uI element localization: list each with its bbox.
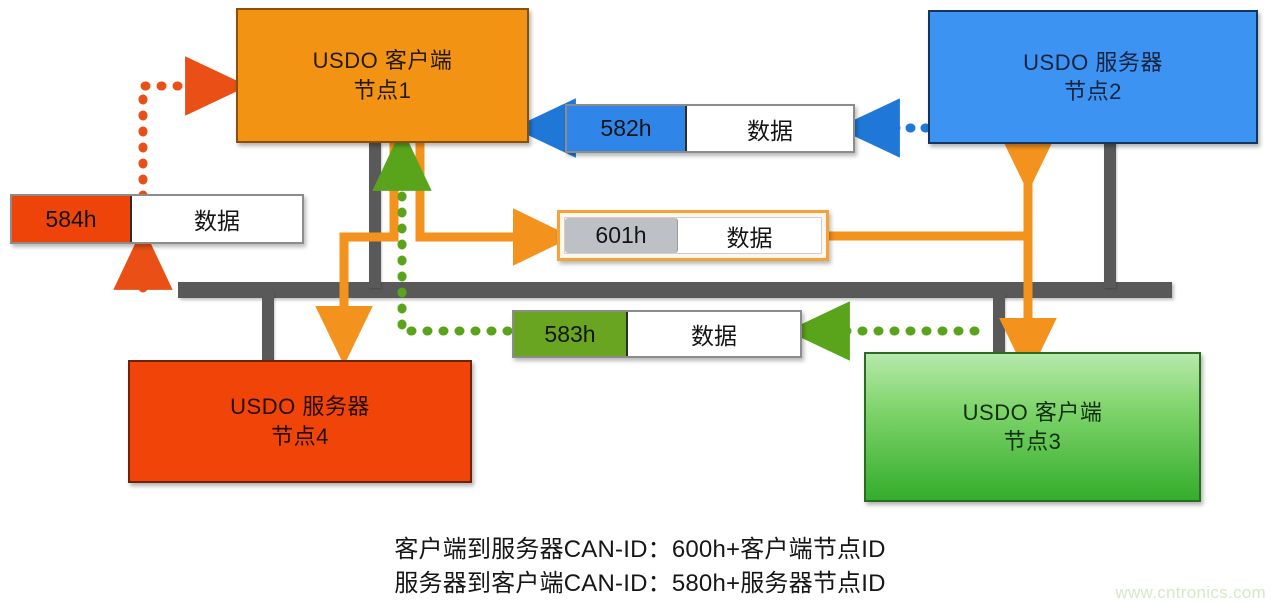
can-frame-601h[interactable]: 601h 数据 <box>557 210 829 261</box>
can-frame-582h[interactable]: 582h 数据 <box>565 104 855 153</box>
node-usdo-server-2[interactable]: USDO 服务器 节点2 <box>928 10 1258 144</box>
node-usdo-server-4[interactable]: USDO 服务器 节点4 <box>128 360 472 483</box>
can-frame-601h-data: 数据 <box>678 218 821 253</box>
caption-line-2: 服务器到客户端CAN-ID：580h+服务器节点ID <box>0 567 1280 601</box>
node-usdo-client-1[interactable]: USDO 客户端 节点1 <box>236 8 529 143</box>
can-frame-583h-data: 数据 <box>628 312 800 356</box>
node4-name: 节点4 <box>271 422 329 451</box>
node4-role: USDO 服务器 <box>230 392 370 421</box>
can-frame-582h-id: 582h <box>567 106 687 151</box>
node-usdo-client-3[interactable]: USDO 客户端 节点3 <box>864 352 1201 502</box>
bus-stub-node4 <box>262 294 274 362</box>
node2-name: 节点2 <box>1064 77 1122 106</box>
arrow-node1-to-frame601 <box>420 143 540 237</box>
can-frame-582h-data: 数据 <box>687 106 853 151</box>
watermark: www.cntronics.com <box>1115 583 1266 603</box>
can-bus-bar <box>178 282 1172 298</box>
can-frame-583h[interactable]: 583h 数据 <box>512 310 802 358</box>
can-frame-601h-id: 601h <box>565 218 678 253</box>
node3-role: USDO 客户端 <box>963 398 1103 427</box>
can-frame-584h-data: 数据 <box>132 196 302 242</box>
caption-line-1: 客户端到服务器CAN-ID：600h+客户端节点ID <box>0 533 1280 567</box>
arrow-node4-to-node1-dotted <box>143 86 213 288</box>
node1-role: USDO 客户端 <box>313 46 453 75</box>
caption: 客户端到服务器CAN-ID：600h+客户端节点ID 服务器到客户端CAN-ID… <box>0 533 1280 601</box>
node2-role: USDO 服务器 <box>1023 48 1163 77</box>
can-frame-583h-id: 583h <box>514 312 628 356</box>
can-frame-584h[interactable]: 584h 数据 <box>10 194 304 244</box>
diagram-canvas: USDO 客户端 节点1 USDO 服务器 节点2 USDO 服务器 节点4 U… <box>0 0 1280 609</box>
bus-stub-node1 <box>369 143 381 288</box>
node3-name: 节点3 <box>1004 427 1062 456</box>
node1-name: 节点1 <box>354 76 412 105</box>
bus-stub-node2 <box>1104 143 1116 288</box>
can-frame-584h-id: 584h <box>12 196 132 242</box>
bus-stub-node3 <box>993 294 1005 356</box>
